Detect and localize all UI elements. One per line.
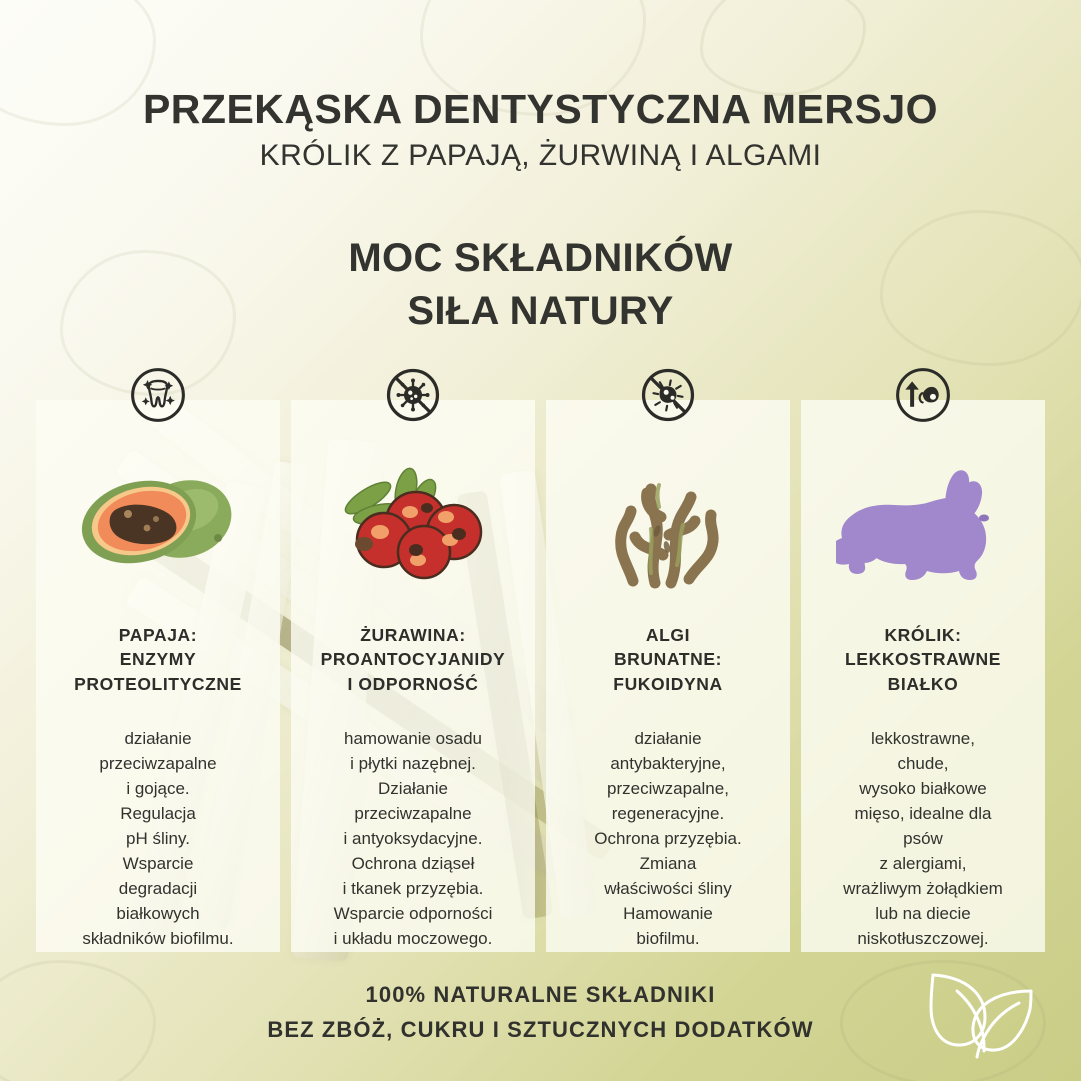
infographic-poster: PRZEKĄSKA DENTYSTYCZNA MERSJO KRÓLIK Z P… xyxy=(0,0,1081,1081)
two-leaves-logo xyxy=(915,963,1035,1063)
algae-illustration xyxy=(556,444,780,601)
no-bacteria-icon xyxy=(639,366,697,424)
ingredient-card-zurawina[interactable]: ŻURAWINA: PROANTOCYJANIDY I ODPORNOŚĆ ha… xyxy=(291,400,535,952)
card-body: działanie przeciwzapalne i gojące. Regul… xyxy=(82,727,233,952)
icon-cell-papaya xyxy=(36,366,280,426)
icon-cell-rabbit xyxy=(801,366,1045,426)
card-body: lekkostrawne, chude, wysoko białkowe mię… xyxy=(843,727,1003,952)
ingredient-card-algi[interactable]: ALGI BRUNATNE: FUKOIDYNA działanie antyb… xyxy=(546,400,790,952)
tooth-sparkle-icon xyxy=(129,366,187,424)
ingredient-card-krolik[interactable]: KRÓLIK: LEKKOSTRAWNE BIAŁKO lekkostrawne… xyxy=(801,400,1045,952)
papaya-illustration xyxy=(46,444,270,601)
meat-protein-up-icon xyxy=(894,366,952,424)
card-title: ŻURAWINA: PROANTOCYJANIDY I ODPORNOŚĆ xyxy=(321,623,506,698)
icon-cell-cranberry xyxy=(291,366,535,426)
headline-line-2: SIŁA NATURY xyxy=(0,285,1081,338)
cranberry-illustration xyxy=(301,444,525,601)
icon-cell-algae xyxy=(546,366,790,426)
icon-row xyxy=(36,366,1045,426)
card-title: KRÓLIK: LEKKOSTRAWNE BIAŁKO xyxy=(845,623,1001,698)
ingredient-card-papaja[interactable]: PAPAJA: ENZYMY PROTEOLITYCZNE działanie … xyxy=(36,400,280,952)
card-title: PAPAJA: ENZYMY PROTEOLITYCZNE xyxy=(74,623,242,698)
card-body: hamowanie osadu i płytki nazębnej. Dział… xyxy=(334,727,493,952)
rabbit-illustration xyxy=(811,444,1035,601)
headline-block: MOC SKŁADNIKÓW SIŁA NATURY xyxy=(0,232,1081,338)
page-title: PRZEKĄSKA DENTYSTYCZNA MERSJO xyxy=(0,88,1081,131)
card-body: działanie antybakteryjne, przeciwzapalne… xyxy=(594,727,741,952)
background-watermark xyxy=(700,0,866,96)
headline-line-1: MOC SKŁADNIKÓW xyxy=(0,232,1081,285)
page-subtitle: KRÓLIK Z PAPAJĄ, ŻURWINĄ I ALGAMI xyxy=(0,140,1081,172)
no-virus-icon xyxy=(384,366,442,424)
header-block: PRZEKĄSKA DENTYSTYCZNA MERSJO KRÓLIK Z P… xyxy=(0,88,1081,172)
ingredient-cards: PAPAJA: ENZYMY PROTEOLITYCZNE działanie … xyxy=(36,400,1045,952)
card-title: ALGI BRUNATNE: FUKOIDYNA xyxy=(613,623,722,698)
